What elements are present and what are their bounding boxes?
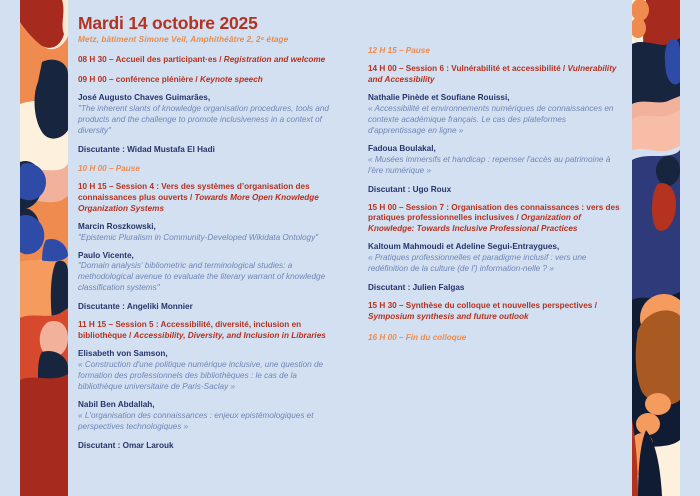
- session-heading-fr: 08 H 30 – Accueil des participant·es /: [78, 55, 224, 64]
- speaker-paper-title: "Domain analysis' bibliometric and termi…: [78, 261, 336, 294]
- discussant-line: Discutante : Angeliki Monnier: [78, 302, 336, 311]
- session-heading: 15 H 00 – Session 7 : Organisation des c…: [368, 203, 622, 236]
- right-schedule-list: 12 H 15 – Pause14 H 00 – Session 6 : Vul…: [368, 46, 622, 342]
- speaker-paper-title: "The inherent slants of knowledge organi…: [78, 104, 336, 137]
- page-subtitle: Metz, bâtiment Simone Veil, Amphithéâtre…: [78, 35, 336, 44]
- session-heading: 08 H 30 – Accueil des participant·es / R…: [78, 55, 336, 66]
- speaker-name: Nabil Ben Abdallah,: [78, 400, 336, 411]
- speaker-entry: Elisabeth von Samson,« Construction d'un…: [78, 349, 336, 393]
- left-schedule-list: 08 H 30 – Accueil des participant·es / R…: [78, 55, 336, 450]
- session-heading-fr: 15 H 00 – Session 7 : Organisation des c…: [368, 203, 620, 223]
- session-heading-en: Accessibility, Diversity, and Inclusion …: [134, 331, 326, 340]
- break-entry: 12 H 15 – Pause: [368, 46, 622, 55]
- session-heading-en: Keynote speech: [200, 75, 263, 84]
- session-heading-en: Registration and welcome: [224, 55, 325, 64]
- speaker-name: Fadoua Boulakal,: [368, 144, 622, 155]
- session-heading: 10 H 15 – Session 4 : Vers des systèmes …: [78, 182, 336, 215]
- speaker-name: Elisabeth von Samson,: [78, 349, 336, 360]
- speaker-name: Nathalie Pinède et Soufiane Rouissi,: [368, 93, 622, 104]
- speaker-name: Kaltoum Mahmoudi et Adeline Segui-Entray…: [368, 242, 622, 253]
- discussant-line: Discutante : Widad Mustafa El Hadi: [78, 145, 336, 154]
- speaker-name: José Augusto Chaves Guimarães,: [78, 93, 336, 104]
- speaker-entry: Nabil Ben Abdallah,« L'organisation des …: [78, 400, 336, 433]
- session-heading: 09 H 00 – conférence plénière / Keynote …: [78, 75, 336, 86]
- speaker-paper-title: « L'organisation des connaissances : enj…: [78, 411, 336, 433]
- session-heading-fr: 15 H 30 – Synthèse du colloque et nouvel…: [368, 301, 597, 310]
- page-title: Mardi 14 octobre 2025: [78, 14, 336, 33]
- programme-sheet: Mardi 14 octobre 2025 Metz, bâtiment Sim…: [68, 0, 632, 496]
- session-heading: 14 H 00 – Session 6 : Vulnérabilité et a…: [368, 64, 622, 86]
- column-left: Mardi 14 octobre 2025 Metz, bâtiment Sim…: [68, 14, 350, 496]
- speaker-entry: Fadoua Boulakal,« Musées immersifs et ha…: [368, 144, 622, 177]
- speaker-entry: Marcin Roszkowski,"Epistemic Pluralism i…: [78, 222, 336, 244]
- speaker-paper-title: « Accessibilité et environnements numéri…: [368, 104, 622, 137]
- speaker-paper-title: "Epistemic Pluralism in Community-Develo…: [78, 233, 336, 244]
- session-heading-fr: 09 H 00 – conférence plénière /: [78, 75, 200, 84]
- speaker-name: Paulo Vicente,: [78, 251, 336, 262]
- session-heading-fr: 14 H 00 – Session 6 : Vulnérabilité et a…: [368, 64, 567, 73]
- left-strip-artwork: [20, 0, 68, 496]
- discussant-line: Discutant : Julien Falgas: [368, 283, 622, 292]
- column-right: 12 H 15 – Pause14 H 00 – Session 6 : Vul…: [350, 14, 632, 496]
- break-entry: 10 H 00 – Pause: [78, 164, 336, 173]
- session-heading-en: Symposium synthesis and future outlook: [368, 312, 529, 321]
- speaker-paper-title: « Musées immersifs et handicap : repense…: [368, 155, 622, 177]
- speaker-entry: Nathalie Pinède et Soufiane Rouissi,« Ac…: [368, 93, 622, 137]
- speaker-paper-title: « Construction d'une politique numérique…: [78, 360, 336, 393]
- speaker-entry: Kaltoum Mahmoudi et Adeline Segui-Entray…: [368, 242, 622, 275]
- speaker-paper-title: « Pratiques professionnelles et paradigm…: [368, 253, 622, 275]
- right-strip-artwork: [632, 0, 680, 496]
- speaker-name: Marcin Roszkowski,: [78, 222, 336, 233]
- discussant-line: Discutant : Omar Larouk: [78, 441, 336, 450]
- illustration-strip-right: [632, 0, 680, 496]
- break-entry: 16 H 00 – Fin du colloque: [368, 333, 622, 342]
- discussant-line: Discutant : Ugo Roux: [368, 185, 622, 194]
- illustration-strip-left: [20, 0, 68, 496]
- speaker-entry: Paulo Vicente,"Domain analysis' bibliome…: [78, 251, 336, 295]
- speaker-entry: José Augusto Chaves Guimarães,"The inher…: [78, 93, 336, 137]
- session-heading: 15 H 30 – Synthèse du colloque et nouvel…: [368, 301, 622, 323]
- session-heading: 11 H 15 – Session 5 : Accessibilité, div…: [78, 320, 336, 342]
